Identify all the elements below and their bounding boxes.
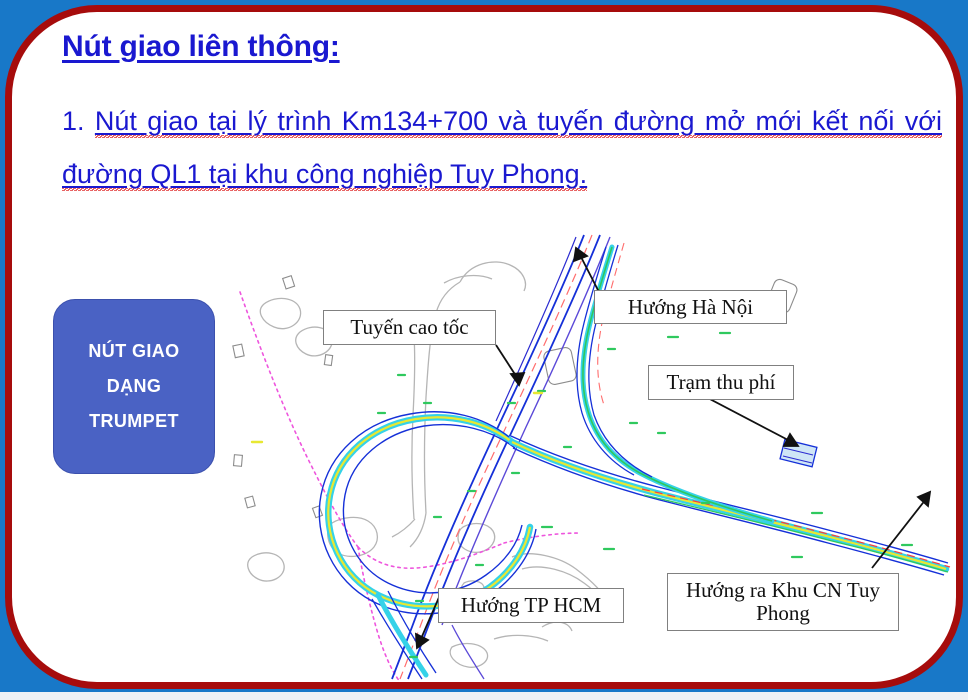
- slide-panel: Nút giao liên thông: 1. Nút giao tại lý …: [5, 5, 963, 689]
- label-huong-ra-khu-cn-tuy-phong: Hướng ra Khu CN Tuy Phong: [667, 573, 899, 631]
- loop-ramp: [319, 412, 536, 614]
- label-text: Trạm thu phí: [667, 371, 776, 394]
- trumpet-line-3: TRUMPET: [89, 411, 179, 432]
- label-text: Tuyến cao tốc: [350, 316, 468, 339]
- body-paragraph: 1. Nút giao tại lý trình Km134+700 và tu…: [62, 95, 942, 201]
- label-huong-tp-hcm: Hướng TP HCM: [438, 588, 624, 623]
- label-text-line-2: Phong: [686, 602, 880, 625]
- page-title: Nút giao liên thông:: [62, 30, 340, 64]
- label-text-line-1: Hướng ra Khu CN Tuy: [686, 579, 880, 602]
- label-text: Hướng TP HCM: [461, 594, 601, 617]
- boundary-line: [240, 292, 580, 682]
- trumpet-line-2: DẠNG: [107, 376, 162, 397]
- slide-canvas: Nút giao liên thông: 1. Nút giao tại lý …: [0, 0, 968, 700]
- label-text: Hướng Hà Nội: [628, 296, 753, 319]
- body-item-text: Nút giao tại lý trình Km134+700 và tuyến…: [62, 106, 942, 191]
- label-huong-ha-noi: Hướng Hà Nội: [594, 290, 787, 324]
- label-tram-thu-phi: Trạm thu phí: [648, 365, 794, 400]
- bottom-strip: [0, 692, 968, 700]
- label-tuyen-cao-toc: Tuyến cao tốc: [323, 310, 496, 345]
- trumpet-line-1: NÚT GIAO: [88, 341, 179, 362]
- body-item-number: 1.: [62, 106, 85, 136]
- trumpet-callout-box: NÚT GIAO DẠNG TRUMPET: [53, 299, 215, 474]
- connector-ramp: [511, 436, 950, 575]
